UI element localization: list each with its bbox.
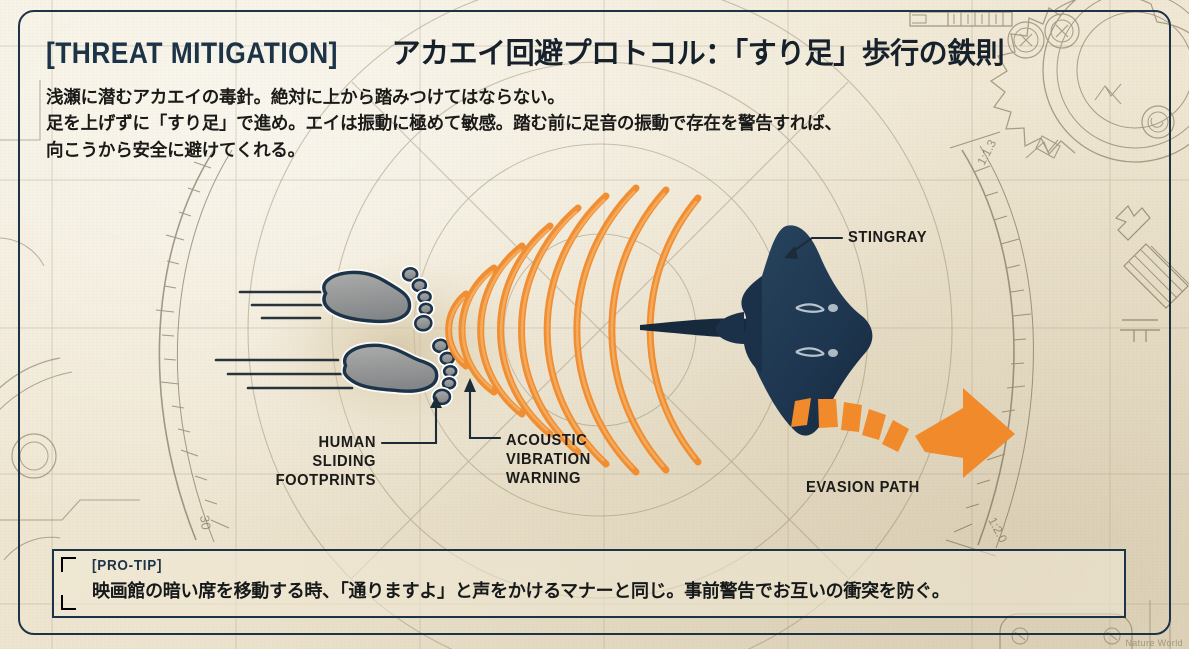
title-row: [THREAT MITIGATION] アカエイ回避プロトコル：「すり足」歩行の… — [46, 30, 1066, 72]
lede-line-2: 足を上げずに「すり足」で進め。エイは振動に極めて敏感。踏む前に足音の振動で存在を… — [46, 110, 1066, 136]
footprint-lower — [343, 339, 459, 411]
label-evasion-path: EVASION PATH — [806, 479, 920, 498]
label-human-sliding-footprints: HUMAN SLIDING FOOTPRINTS — [258, 434, 376, 491]
pro-tip-tag: [PRO-TIP] — [92, 557, 162, 574]
stingray-head-notch — [716, 312, 744, 344]
label-stingray: STINGRAY — [848, 229, 927, 248]
label-footprints-line-2: FOOTPRINTS — [258, 472, 376, 491]
threat-mitigation-tag: [THREAT MITIGATION] — [46, 37, 338, 71]
lede-line-1: 浅瀬に潜むアカエイの毒針。絶対に上から踏みつけてはならない。 — [46, 84, 1066, 110]
stingray-spiracle-top — [828, 304, 838, 312]
stingray-spiracle-bottom — [828, 349, 838, 357]
evasion-path-arrow — [791, 388, 1015, 478]
evasion-arrow-head — [915, 388, 1015, 478]
label-acoustic-vibration-warning: ACOUSTIC VIBRATION WARNING — [506, 432, 626, 489]
footprint-upper — [321, 264, 434, 340]
pro-tip-box: [PRO-TIP] 映画館の暗い席を移動する時、「通りますよ」と声をかけるマナー… — [52, 549, 1126, 618]
pro-tip-body: 映画館の暗い席を移動する時、「通りますよ」と声をかけるマナーと同じ。事前警告でお… — [92, 577, 1124, 603]
label-acoustic-line-3: WARNING — [506, 470, 626, 489]
corner-bracket-top-left — [61, 557, 76, 572]
corner-bracket-bottom-left — [61, 595, 76, 610]
label-acoustic-line-2: VIBRATION — [506, 451, 626, 470]
corner-credit-note: Nature World — [1125, 638, 1183, 648]
stingray-illustration — [640, 225, 872, 435]
lede-paragraph: 浅瀬に潜むアカエイの毒針。絶対に上から踏みつけてはならない。 足を上げずに「すり… — [46, 84, 1066, 163]
pro-tip-content: [PRO-TIP] 映画館の暗い席を移動する時、「通りますよ」と声をかけるマナー… — [54, 551, 1124, 603]
header-block: [THREAT MITIGATION] アカエイ回避プロトコル：「すり足」歩行の… — [46, 30, 1066, 163]
label-acoustic-line-1: ACOUSTIC — [506, 432, 626, 451]
leader-footprints — [382, 400, 436, 443]
lede-line-3: 向こうから安全に避けてくれる。 — [46, 137, 1066, 163]
label-footprints-line-1: HUMAN SLIDING — [258, 434, 376, 472]
page-title: アカエイ回避プロトコル：「すり足」歩行の鉄則 — [392, 30, 1005, 72]
